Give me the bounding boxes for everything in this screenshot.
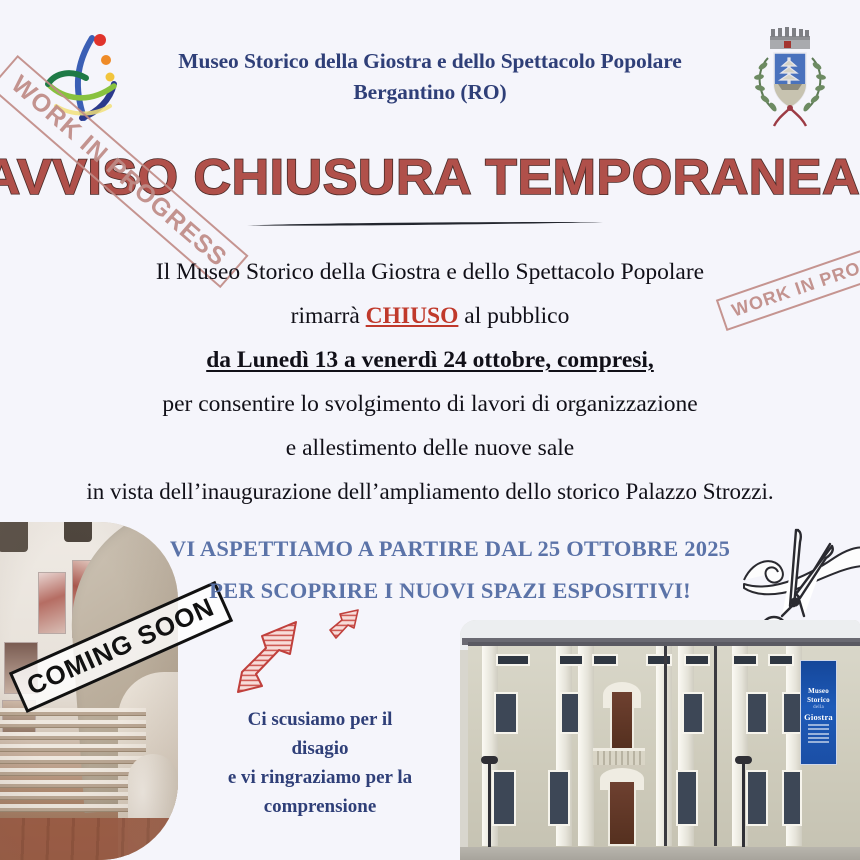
facade-window bbox=[782, 692, 802, 734]
attic-window bbox=[496, 654, 530, 666]
balcony-door bbox=[610, 690, 634, 750]
banner-line-4: Giostra bbox=[801, 713, 836, 722]
title-divider-rule bbox=[247, 214, 603, 220]
stone-balcony bbox=[593, 748, 645, 768]
photo-ground-pavement bbox=[460, 847, 860, 860]
facade-window bbox=[494, 692, 518, 734]
facade-window bbox=[492, 770, 516, 826]
callout-line-2: PER SCOPRIRE I NUOVI SPAZI ESPOSITIVI! bbox=[150, 570, 750, 612]
hand-drawn-red-arrows-icon bbox=[232, 608, 372, 708]
attic-window bbox=[768, 654, 794, 666]
facade-window bbox=[676, 770, 698, 826]
facade-window bbox=[746, 692, 768, 734]
street-lamp bbox=[488, 762, 491, 852]
apology-text: Ci scusiamo per il disagio e vi ringrazi… bbox=[205, 705, 435, 821]
facade-window bbox=[548, 770, 570, 826]
facade-pilaster bbox=[578, 646, 594, 846]
museum-vertical-banner: Museo Storico della Giostra bbox=[800, 660, 837, 765]
body-line-2: rimarrà CHIUSO al pubblico bbox=[0, 294, 860, 338]
apology-line-2: disagio bbox=[205, 734, 435, 763]
attic-window bbox=[558, 654, 584, 666]
poster-header: Museo Storico della Giostra e dello Spet… bbox=[0, 0, 860, 140]
apology-line-3: e vi ringraziamo per la bbox=[205, 763, 435, 792]
closure-dates-line: da Lunedì 13 a venerdì 24 ottobre, compr… bbox=[0, 338, 860, 382]
apology-line-1: Ci scusiamo per il bbox=[205, 705, 435, 734]
banner-detail-lines bbox=[801, 724, 836, 744]
body-line-4: per consentire lo svolgimento di lavori … bbox=[0, 382, 860, 426]
callout-line-1: VI ASPETTIAMO A PARTIRE DAL 25 OTTOBRE 2… bbox=[150, 528, 750, 570]
downpipe bbox=[714, 646, 717, 846]
facade-window bbox=[746, 770, 768, 826]
header-title-line1: Museo Storico della Giostra e dello Spet… bbox=[178, 49, 681, 73]
facade-window bbox=[560, 692, 580, 734]
body-line-2-post: al pubblico bbox=[458, 303, 569, 329]
facade-window bbox=[682, 692, 704, 734]
header-title-line2: Bergantino (RO) bbox=[150, 77, 710, 108]
page-title: Museo Storico della Giostra e dello Spet… bbox=[150, 46, 710, 108]
banner-line-2: Storico bbox=[801, 696, 836, 705]
chiuso-highlight: CHIUSO bbox=[366, 303, 459, 329]
notice-body: Il Museo Storico della Giostra e dello S… bbox=[0, 250, 860, 514]
attic-window bbox=[684, 654, 710, 666]
main-entrance-door bbox=[608, 780, 636, 846]
attic-window bbox=[732, 654, 758, 666]
banner-line-1: Museo bbox=[801, 687, 836, 696]
body-line-1: Il Museo Storico della Giostra e dello S… bbox=[0, 250, 860, 294]
downpipe bbox=[664, 646, 667, 846]
reopening-callout: VI ASPETTIAMO A PARTIRE DAL 25 OTTOBRE 2… bbox=[150, 528, 750, 612]
facade-window bbox=[782, 770, 802, 826]
attic-window bbox=[592, 654, 618, 666]
body-line-6: in vista dell’inaugurazione dell’ampliam… bbox=[0, 470, 860, 514]
poster-canvas: Museo Storico della Giostra e dello Spet… bbox=[0, 0, 860, 860]
bergantino-municipal-crest bbox=[744, 22, 836, 130]
apology-line-4: comprensione bbox=[205, 792, 435, 821]
attic-window bbox=[646, 654, 672, 666]
body-line-5: e allestimento delle nuove sale bbox=[0, 426, 860, 470]
street-lamp bbox=[742, 762, 745, 852]
body-line-2-pre: rimarrà bbox=[291, 303, 366, 329]
palazzo-strozzi-facade-photo: Museo Storico della Giostra bbox=[460, 620, 860, 860]
